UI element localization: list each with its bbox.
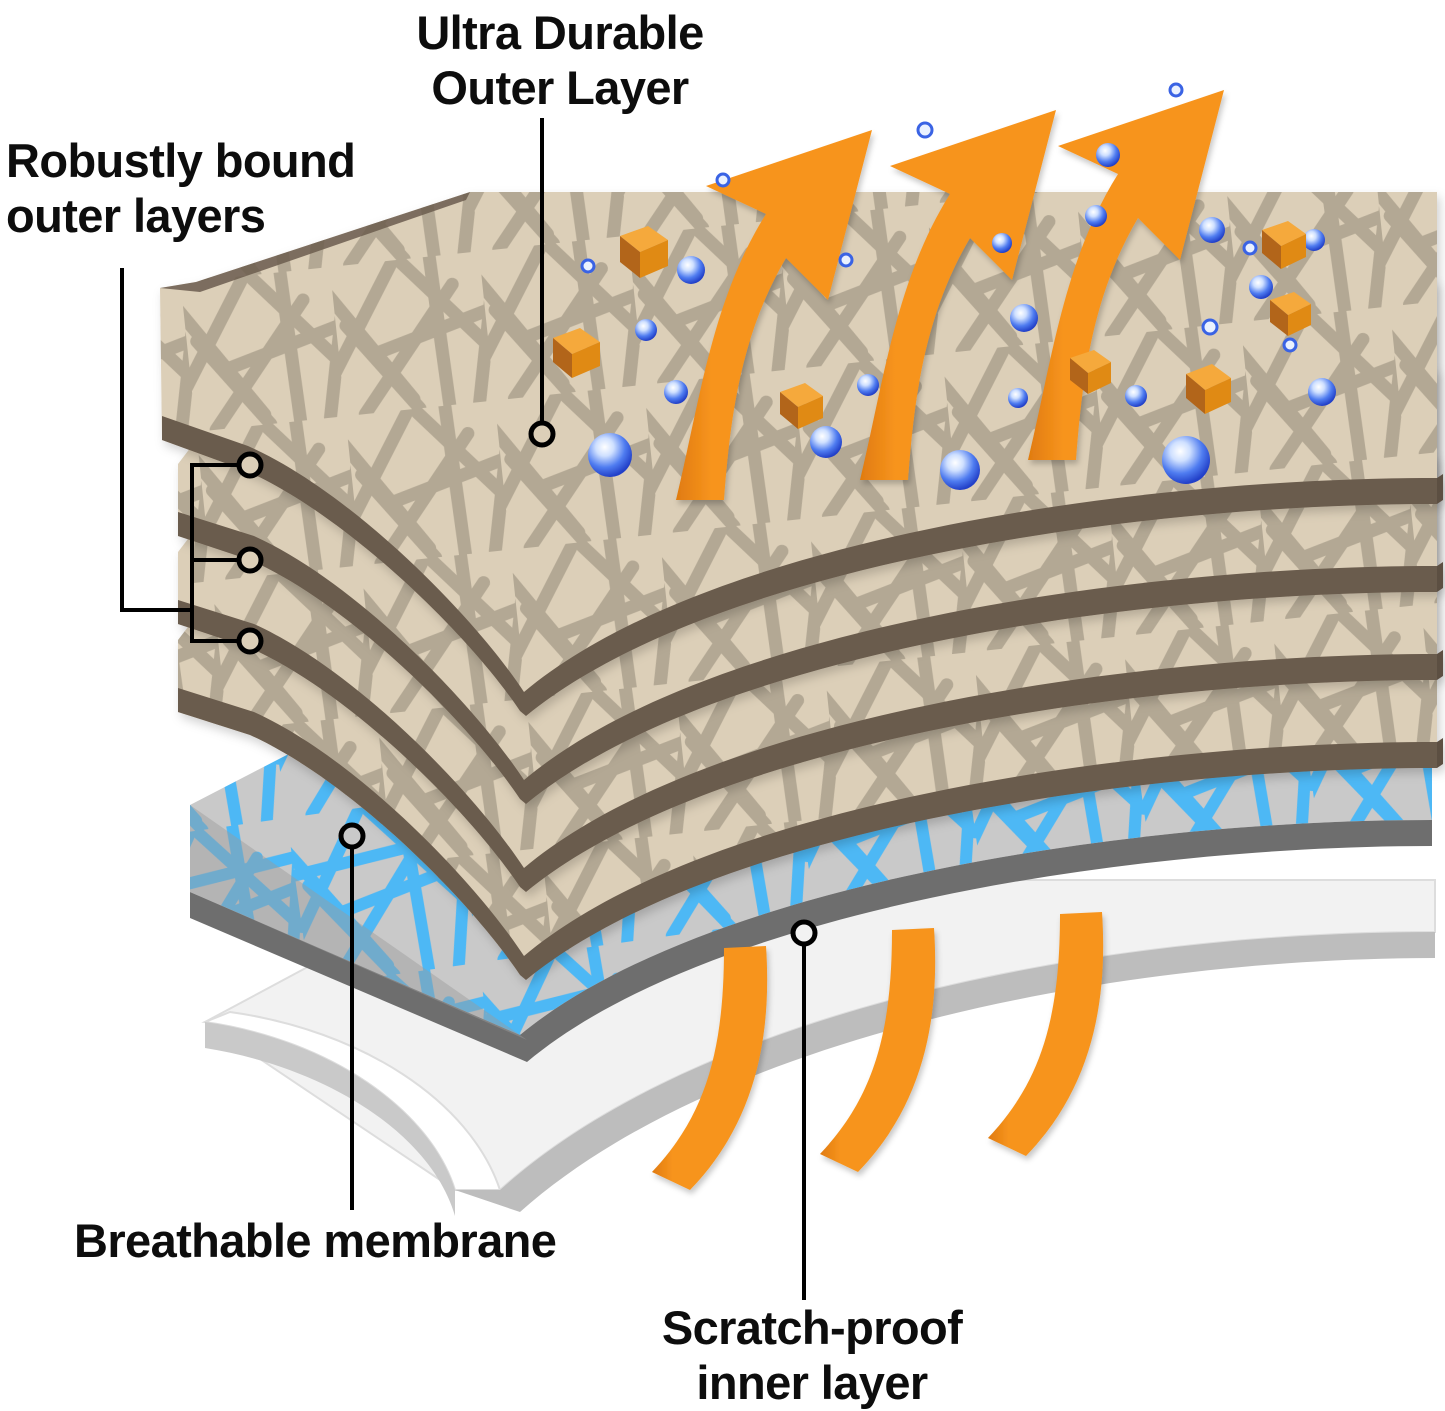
droplet bbox=[1303, 229, 1325, 251]
droplet-ring bbox=[840, 254, 852, 266]
label-robustly-bound-outer-layers: Robustly bound outer layers bbox=[6, 133, 426, 244]
droplet-ring bbox=[918, 123, 932, 137]
droplet bbox=[1199, 217, 1225, 243]
droplet-ring bbox=[582, 260, 594, 272]
droplet-ring bbox=[1244, 242, 1256, 254]
droplet bbox=[635, 319, 657, 341]
label-breathable-membrane: Breathable membrane bbox=[74, 1213, 694, 1268]
callout-marker-membrane bbox=[341, 825, 363, 847]
droplet bbox=[1249, 275, 1273, 299]
callout-marker-bound-1 bbox=[239, 454, 261, 476]
droplet bbox=[1010, 304, 1038, 332]
droplet bbox=[677, 256, 705, 284]
droplet bbox=[810, 426, 842, 458]
callout-marker-bound-3 bbox=[239, 630, 261, 652]
callout-marker-ultra-durable bbox=[531, 423, 553, 445]
droplet-ring bbox=[717, 174, 729, 186]
droplet bbox=[1125, 385, 1147, 407]
droplet bbox=[992, 233, 1012, 253]
droplet bbox=[1162, 436, 1210, 484]
callout-marker-bound-2 bbox=[239, 549, 261, 571]
droplet bbox=[1096, 143, 1120, 167]
droplet bbox=[940, 450, 980, 490]
label-ultra-durable-outer-layer: Ultra Durable Outer Layer bbox=[395, 5, 725, 116]
droplet bbox=[1008, 388, 1028, 408]
droplet-ring bbox=[1284, 339, 1296, 351]
droplet bbox=[1085, 205, 1107, 227]
droplet bbox=[1308, 378, 1336, 406]
droplet-ring bbox=[1170, 84, 1182, 96]
callout-marker-scratch-proof bbox=[793, 922, 815, 944]
droplet bbox=[857, 374, 879, 396]
droplet bbox=[664, 380, 688, 404]
droplet bbox=[588, 433, 632, 477]
label-scratch-proof-inner-layer: Scratch-proof inner layer bbox=[622, 1300, 1002, 1411]
droplet-ring bbox=[1203, 320, 1217, 334]
diagram-canvas: Ultra Durable Outer Layer Robustly bound… bbox=[0, 0, 1445, 1410]
